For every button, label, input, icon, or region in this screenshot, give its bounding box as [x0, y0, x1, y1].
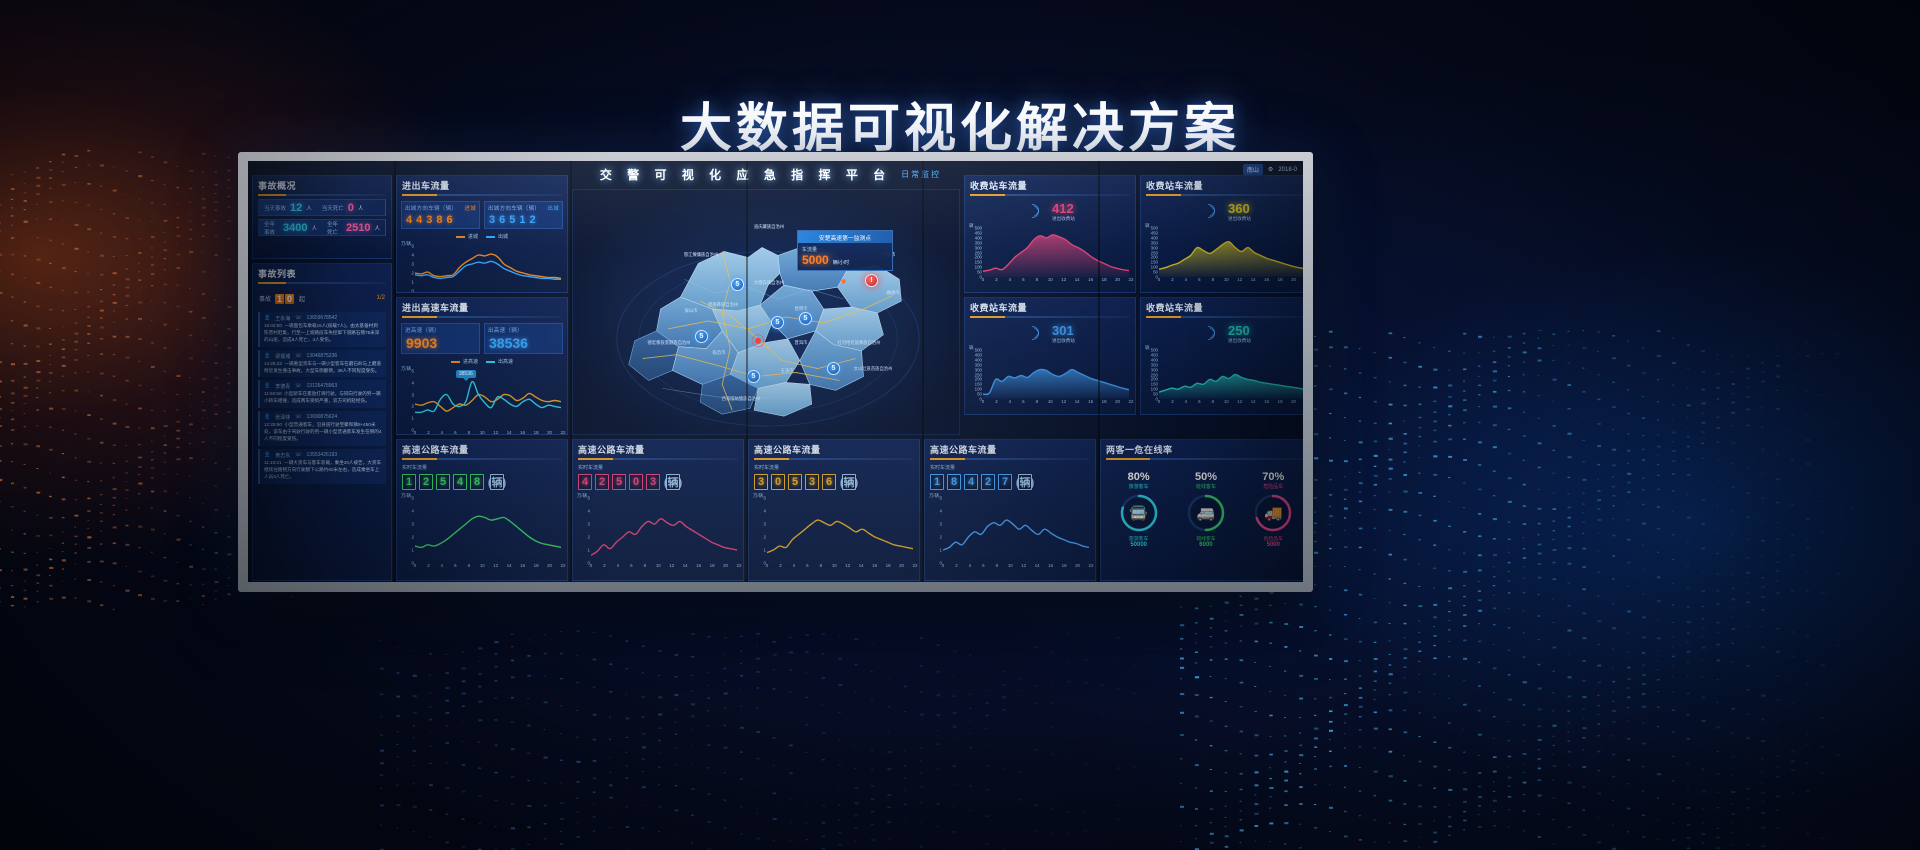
- title-underline: [258, 194, 386, 196]
- y-tick: 1: [412, 548, 414, 553]
- stat-unit: 人: [358, 204, 364, 212]
- x-tick: 14: [1251, 277, 1256, 282]
- y-tick: 2: [764, 535, 766, 540]
- x-tick: 14: [1075, 277, 1080, 282]
- map-region-label: 玉溪市: [781, 368, 794, 374]
- panel-accident-overview: 事故概况 当天事故12人当天死亡0人全年事故3400人全年死亡2510人: [252, 175, 392, 259]
- online-rate-gauge: 50%班线客车🚐班线客车6000: [1176, 471, 1236, 548]
- x-tick: 12: [493, 563, 498, 568]
- panel-title: 收费站车流量: [1141, 176, 1303, 194]
- panel-accident-list: 事故列表 事故 10 起 1/2 👤王永海☏1365967854215:02:5…: [252, 263, 392, 581]
- x-tick: 4: [1009, 399, 1011, 404]
- odometer-unit: (辆): [490, 474, 504, 490]
- dashboard-header: 交 警 可 视 化 应 急 指 挥 平 台 日常监控: [578, 161, 963, 187]
- accident-text: 11:10:21 一辆大货车与客车装载，乘坐20人被告，大货车继续往路侧方向行驶…: [264, 460, 382, 481]
- legend-label: 出高速: [498, 358, 513, 365]
- x-tick: 8: [468, 563, 470, 568]
- count-unit: 起: [299, 294, 305, 303]
- gear-icon[interactable]: ⚙: [1268, 166, 1273, 173]
- x-tick: 16: [520, 563, 525, 568]
- accident-time: 14:25:23: [264, 361, 282, 366]
- x-tick: 18: [1278, 399, 1283, 404]
- header-clock: 南山 ⚙ 2018-0: [1243, 164, 1297, 175]
- x-tick: 18: [886, 563, 891, 568]
- map-marker-pin[interactable]: 5: [827, 362, 840, 375]
- title-underline: [754, 458, 914, 460]
- panel-title: 高速公路车流量: [749, 440, 919, 458]
- toll-sub-label: 进出收费站: [1052, 338, 1075, 344]
- x-tick: 14: [1075, 399, 1080, 404]
- x-tick: 8: [468, 291, 470, 293]
- person-icon: 👤: [264, 315, 270, 322]
- x-tick: 4: [1185, 399, 1187, 404]
- x-tick: 16: [696, 563, 701, 568]
- phone-icon: ☏: [295, 353, 301, 360]
- highspeed-flow-chart: 万/辆543210024681012141618202238536: [401, 367, 563, 435]
- toll-counter: 360进出收费站: [1141, 199, 1303, 222]
- chart-legend: 进城出城: [397, 233, 567, 240]
- odometer-digit: 1: [930, 474, 944, 490]
- accident-time: 12:25:50: [264, 422, 282, 427]
- x-tick: 12: [1237, 277, 1242, 282]
- panel-title: 两客一危在线率: [1101, 440, 1303, 458]
- online-rate-gauge: 70%危险品车🚚危险品车5000: [1243, 471, 1303, 548]
- odometer-digit: 2: [981, 474, 995, 490]
- y-tick: 3: [412, 392, 414, 397]
- gauge-percent: 80%: [1109, 471, 1169, 483]
- counter-digits: 44386: [405, 214, 476, 226]
- x-tick: 2: [427, 291, 429, 293]
- realtime-flow-label: 实时车流量: [397, 463, 567, 471]
- title-underline: [402, 316, 562, 318]
- count-digit: 1: [275, 294, 284, 304]
- odometer-digit: 0: [771, 474, 785, 490]
- tooltip-value: 5000: [802, 253, 829, 267]
- tooltip-label: 车流量: [802, 246, 888, 253]
- odometer-digit: 5: [436, 474, 450, 490]
- reporter-phone: 13126478963: [307, 383, 338, 390]
- x-tick: 2: [995, 277, 997, 282]
- x-tick: 16: [1264, 277, 1269, 282]
- accident-list-item[interactable]: 👤梁振城☏1304687523614:25:23 一辆重型货车与一辆小型客车在磨…: [258, 350, 386, 378]
- y-tick: 5: [412, 369, 414, 374]
- counter-digits: 36512: [488, 214, 559, 226]
- vehicle-icon: 🚐: [1197, 504, 1216, 522]
- counter-group: 进高速（辆）9903出高速（辆）38536: [397, 321, 567, 356]
- x-tick: 10: [480, 563, 485, 568]
- title-underline: [578, 458, 738, 460]
- legend-label: 出城: [498, 233, 508, 240]
- panel-title: 高速公路车流量: [573, 440, 743, 458]
- stat-label: 全年死亡: [327, 220, 342, 236]
- y-axis: 500450400350300250200150100500: [1145, 228, 1159, 277]
- odometer-digit: 8: [947, 474, 961, 490]
- x-tick: 2: [1171, 277, 1173, 282]
- x-tick: 14: [859, 563, 864, 568]
- x-tick: 20: [547, 563, 552, 568]
- x-tick: 2: [427, 563, 429, 568]
- x-tick: 18: [1062, 563, 1067, 568]
- chart-legend: 进高速出高速: [397, 358, 567, 365]
- gauge-caption: 班线客车: [1176, 535, 1236, 542]
- x-tick: 20: [1291, 399, 1296, 404]
- counter-digit: 2: [529, 214, 537, 226]
- gauge-ring: 🚍: [1119, 493, 1159, 533]
- x-tick: 8: [996, 563, 998, 568]
- map-panel[interactable]: 迪庆藏族自治州丽江市怒江傈僳族自治州大理白族自治州保山市昭通市曲靖市楚雄彝族自治…: [572, 189, 960, 435]
- title-underline: [258, 282, 386, 284]
- x-tick: 0: [1158, 277, 1160, 282]
- x-tick: 18: [534, 430, 539, 435]
- reporter-phone: 13046875236: [307, 353, 338, 360]
- tooltip-unit: 辆/小时: [833, 259, 849, 266]
- title-underline: [970, 316, 1130, 318]
- odometer-digit: 4: [453, 474, 467, 490]
- counter-group: 出城方向车辆（辆）进城44386出城方向车辆（辆）出城36512: [397, 199, 567, 231]
- realtime-flow-label: 实时车流量: [573, 463, 743, 471]
- accident-meta: 👤王永海☏13659678542: [264, 315, 382, 322]
- map-region-label: 怒江傈僳族自治州: [684, 252, 718, 258]
- y-axis: 500450400350300250200150100500: [1145, 350, 1159, 399]
- x-tick: 20: [1115, 277, 1120, 282]
- accident-list-item[interactable]: 👤张泽林☏1369087562412:25:50 小型普通客车，沿县道行驶至聚和…: [258, 411, 386, 446]
- x-axis: 0246810121416182022: [415, 430, 563, 435]
- y-tick: 5: [588, 496, 590, 501]
- odometer-unit: (辆): [1018, 474, 1032, 490]
- accident-list-item[interactable]: 👤王永海☏1365967854215:02:50 一辆面包车乘载15人(核载7人…: [258, 312, 386, 347]
- pager-label[interactable]: 1/2: [377, 295, 385, 301]
- y-axis: 543210: [753, 498, 767, 563]
- count-label: 事故: [259, 294, 271, 303]
- x-tick: 16: [520, 430, 525, 435]
- map-region-label: 楚雄彝族自治州: [708, 302, 738, 308]
- x-tick: 20: [899, 563, 904, 568]
- x-tick: 16: [1088, 277, 1093, 282]
- title-underline: [1106, 458, 1303, 460]
- panel-inout-vehicle-flow: 进出车流量 出城方向车辆（辆）进城44386出城方向车辆（辆）出城36512 进…: [396, 175, 568, 293]
- title-underline: [402, 458, 562, 460]
- y-tick: 1: [412, 280, 414, 285]
- x-tick: 4: [617, 563, 619, 568]
- panel-highway-flow-3: 高速公路车流量实时车流量30536(辆)万/辆54321002468101214…: [748, 439, 920, 581]
- stat-label: 全年事故: [264, 220, 279, 236]
- legend-swatch: [486, 236, 495, 238]
- map-marker-pin[interactable]: 5: [771, 316, 784, 329]
- x-tick: 4: [1009, 277, 1011, 282]
- map-marker-pin[interactable]: 5: [695, 330, 708, 343]
- accident-meta: 👤张泽林☏13690875624: [264, 414, 382, 421]
- x-tick: 4: [441, 430, 443, 435]
- y-tick: 5: [764, 496, 766, 501]
- y-tick: 3: [764, 522, 766, 527]
- x-tick: 18: [534, 291, 539, 293]
- toll-value: 301: [1052, 323, 1074, 338]
- x-tick: 12: [1061, 399, 1066, 404]
- plot-area: [983, 350, 1129, 399]
- x-tick: 16: [872, 563, 877, 568]
- title-underline: [402, 194, 562, 196]
- legend-label: 进城: [468, 233, 478, 240]
- accident-text: 11:50:50 小型轿车在冕勃打滑行驶，与同向行驶的另一辆小轿车相撞，造成两车…: [264, 391, 382, 405]
- x-tick: 0: [414, 430, 416, 435]
- x-tick: 8: [1036, 399, 1038, 404]
- map-region-label: 普洱市: [795, 340, 808, 346]
- accident-list-item[interactable]: 👤黄志东☏1355342619311:10:21 一辆大货车与客车装载，乘坐20…: [258, 449, 386, 484]
- x-axis: 0246810121416182022: [983, 277, 1131, 286]
- x-tick: 0: [982, 399, 984, 404]
- x-tick: 10: [1048, 399, 1053, 404]
- panel-title: 收费站车流量: [965, 298, 1135, 316]
- y-tick: 3: [412, 522, 414, 527]
- plot-area: [415, 371, 561, 430]
- accident-time: 11:50:50: [264, 391, 282, 396]
- peak-tag: 38536: [456, 370, 476, 378]
- title-underline: [1146, 194, 1303, 196]
- panel-title: 高速公路车流量: [925, 440, 1095, 458]
- tooltip-title: 安楚高速第一监测点: [798, 231, 892, 243]
- map-region-label: 曲靖市: [887, 290, 900, 296]
- x-tick: 12: [493, 430, 498, 435]
- x-tick: 20: [547, 291, 552, 293]
- x-tick: 6: [1198, 399, 1200, 404]
- x-tick: 2: [427, 430, 429, 435]
- legend-item: 进城: [456, 233, 478, 240]
- gauge-value: 6000: [1176, 542, 1236, 548]
- toll-value: 360: [1228, 201, 1250, 216]
- gauge-value: 50000: [1109, 542, 1169, 548]
- region-badge[interactable]: 南山: [1243, 164, 1263, 175]
- plot-area: [591, 498, 737, 563]
- x-tick: 4: [969, 563, 971, 568]
- y-tick: 2: [412, 404, 414, 409]
- toll-counter: 301进出收费站: [965, 321, 1135, 344]
- reporter-phone: 13690875624: [307, 414, 338, 421]
- x-axis: 0246810121416182022: [767, 563, 915, 572]
- map-tooltip: 安楚高速第一监测点 车流量 5000 辆/小时: [797, 230, 893, 271]
- y-axis: 543210: [401, 498, 415, 563]
- x-tick: 4: [441, 563, 443, 568]
- realtime-flow-label: 实时车流量: [925, 463, 1095, 471]
- odometer-digit: 3: [805, 474, 819, 490]
- plot-area: [415, 498, 561, 563]
- gauge-percent: 70%: [1243, 471, 1303, 483]
- x-tick: 10: [1224, 277, 1229, 282]
- plot-area: [943, 498, 1089, 563]
- y-tick: 2: [412, 271, 414, 276]
- x-tick: 22: [1089, 563, 1094, 568]
- x-tick: 2: [603, 563, 605, 568]
- y-tick: 4: [588, 509, 590, 514]
- x-tick: 0: [942, 563, 944, 568]
- map-region-label: 保山市: [685, 308, 698, 314]
- legend-item: 进高速: [451, 358, 478, 365]
- panel-toll-station-2: 收费站车流量360进出收费站辆5004504003503002502001501…: [1140, 175, 1303, 293]
- x-tick: 10: [480, 430, 485, 435]
- x-tick: 10: [480, 291, 485, 293]
- x-tick: 12: [1061, 277, 1066, 282]
- wall-seam: [922, 161, 924, 582]
- x-tick: 10: [832, 563, 837, 568]
- x-tick: 6: [1022, 277, 1024, 282]
- counter-digit: 6: [498, 214, 506, 226]
- accident-time: 15:02:50: [264, 323, 282, 328]
- x-tick: 8: [644, 563, 646, 568]
- plot-area: [983, 228, 1129, 277]
- person-icon: 👤: [264, 353, 270, 360]
- map-marker-pin[interactable]: 5: [731, 278, 744, 291]
- map-marker-pin[interactable]: 5: [747, 370, 760, 383]
- overview-stat-row: 全年事故3400人全年死亡2510人: [258, 219, 386, 236]
- x-tick: 18: [1102, 399, 1107, 404]
- reporter-name: 黄志东: [275, 452, 290, 459]
- reporter-name: 李德青: [275, 383, 290, 390]
- x-tick: 16: [520, 291, 525, 293]
- odometer-digit: 3: [754, 474, 768, 490]
- y-tick: 3: [940, 522, 942, 527]
- phone-icon: ☏: [295, 315, 301, 322]
- y-tick: 4: [764, 509, 766, 514]
- date-label: 2018-0: [1278, 167, 1297, 173]
- odometer-digit: 8: [470, 474, 484, 490]
- gauge-ring: 🚐: [1186, 493, 1226, 533]
- odometer-digit: 2: [595, 474, 609, 490]
- panel-highway-flow-4: 高速公路车流量实时车流量18427(辆)万/辆54321002468101214…: [924, 439, 1096, 581]
- y-tick: 5: [412, 244, 414, 249]
- y-tick: 2: [588, 535, 590, 540]
- counter-digit: 6: [446, 214, 454, 226]
- y-axis: 543210: [401, 371, 415, 430]
- odometer-digit: 0: [629, 474, 643, 490]
- odometer-unit: (辆): [842, 474, 856, 490]
- x-tick: 2: [955, 563, 957, 568]
- x-tick: 14: [683, 563, 688, 568]
- counter-digit: 5: [508, 214, 516, 226]
- map-marker-pin[interactable]: 5: [799, 312, 812, 325]
- odometer-digit: 4: [578, 474, 592, 490]
- y-tick: 1: [412, 416, 414, 421]
- x-tick: 8: [468, 430, 470, 435]
- y-tick: 1: [588, 548, 590, 553]
- counter-value: 9903: [405, 335, 476, 351]
- x-tick: 22: [561, 563, 566, 568]
- counter-badge: 出城: [547, 204, 559, 212]
- panel-title: 收费站车流量: [1141, 298, 1303, 316]
- x-tick: 2: [779, 563, 781, 568]
- stat-label: 当天事故: [264, 204, 286, 212]
- map-region-label: 红河哈尼族彝族自治州: [838, 340, 881, 346]
- flow-counter: 进高速（辆）9903: [401, 323, 480, 354]
- odometer-digit: 1: [402, 474, 416, 490]
- counter-digit: 8: [435, 214, 443, 226]
- gauge-ring: 🚚: [1253, 493, 1293, 533]
- map-region-label: 临沧市: [713, 350, 726, 356]
- counter-digit: 1: [518, 214, 526, 226]
- stat-label: 当天死亡: [322, 204, 344, 212]
- accident-text: 15:02:50 一辆面包车乘载15人(核载7人)，由太基备村到陈营村赶集，行至…: [264, 323, 382, 344]
- person-icon: 👤: [264, 452, 270, 459]
- map-region-label: 大理白族自治州: [754, 280, 784, 286]
- dashboard-screen: 交 警 可 视 化 应 急 指 挥 平 台 日常监控 南山 ⚙ 2018-0 事…: [248, 161, 1303, 582]
- y-tick: 1: [764, 548, 766, 553]
- y-tick: 5: [412, 496, 414, 501]
- counter-label: 进高速（辆）: [405, 326, 440, 334]
- legend-swatch: [486, 361, 495, 363]
- x-tick: 16: [1088, 399, 1093, 404]
- odometer-digit: 4: [964, 474, 978, 490]
- stat-value: 0: [348, 202, 354, 214]
- x-tick: 4: [441, 291, 443, 293]
- gauge-percent: 50%: [1176, 471, 1236, 483]
- realtime-flow-label: 实时车流量: [749, 463, 919, 471]
- x-tick: 10: [1008, 563, 1013, 568]
- x-tick: 14: [507, 430, 512, 435]
- x-tick: 10: [1224, 399, 1229, 404]
- x-tick: 8: [1212, 399, 1214, 404]
- flow-counter: 出城方向车辆（辆）出城36512: [484, 201, 563, 229]
- vehicle-icon: 🚍: [1129, 504, 1148, 522]
- x-tick: 12: [669, 563, 674, 568]
- gauge-name: 旅游客车: [1109, 483, 1169, 490]
- y-tick: 4: [412, 380, 414, 385]
- accident-list-item[interactable]: 👤李德青☏1312647896311:50:50 小型轿车在冕勃打滑行驶，与同向…: [258, 380, 386, 408]
- panel-toll-station-4: 收费站车流量250进出收费站辆5004504003503002502001501…: [1140, 297, 1303, 415]
- panel-online-rate: 两客一危在线率 80%旅游客车🚍旅游客车5000050%班线客车🚐班线客车600…: [1100, 439, 1303, 581]
- map-region-label: 西双版纳傣族自治州: [722, 396, 761, 402]
- map-region-label: 德宏傣族景颇族自治州: [648, 340, 691, 346]
- x-tick: 8: [1212, 277, 1214, 282]
- x-tick: 14: [1251, 399, 1256, 404]
- title-underline: [930, 458, 1090, 460]
- x-tick: 22: [1129, 399, 1134, 404]
- odometer-digit: 5: [612, 474, 626, 490]
- page-title: 大数据可视化解决方案: [0, 86, 1920, 161]
- stat-value: 2510: [346, 222, 370, 234]
- wall-seam: [394, 161, 396, 582]
- legend-swatch: [456, 236, 465, 238]
- wall-seam: [570, 161, 572, 582]
- counter-label: 出高速（辆）: [488, 326, 523, 334]
- gauge-caption: 危险品车: [1243, 535, 1303, 542]
- x-axis: 0246810121416182022: [1159, 277, 1303, 286]
- x-tick: 22: [913, 563, 918, 568]
- panel-toll-station-3: 收费站车流量301进出收费站辆5004504003503002502001501…: [964, 297, 1136, 415]
- reporter-name: 王永海: [275, 315, 290, 322]
- x-tick: 4: [1185, 277, 1187, 282]
- x-axis: 0246810121416182022: [1159, 399, 1303, 408]
- legend-item: 出高速: [486, 358, 513, 365]
- x-tick: 18: [1278, 277, 1283, 282]
- odometer-unit: (辆): [666, 474, 680, 490]
- toll-sub-label: 进出收费站: [1228, 216, 1251, 222]
- accident-meta: 👤黄志东☏13553426193: [264, 452, 382, 459]
- plot-area: [1159, 228, 1303, 277]
- toll-counter: 250进出收费站: [1141, 321, 1303, 344]
- person-icon: 👤: [264, 383, 270, 390]
- x-tick: 8: [1036, 277, 1038, 282]
- wall-seam: [1098, 161, 1100, 582]
- counter-digit: 4: [415, 214, 423, 226]
- panel-title: 进出车流量: [397, 176, 567, 194]
- gauge-caption: 旅游客车: [1109, 535, 1169, 542]
- radar-icon: [1201, 204, 1223, 218]
- x-axis: 0246810121416182022: [591, 563, 739, 572]
- x-tick: 22: [561, 291, 566, 293]
- odometer: 12548(辆): [397, 471, 567, 492]
- map-alarm-pin[interactable]: !: [865, 274, 878, 287]
- x-tick: 12: [1021, 563, 1026, 568]
- x-tick: 20: [723, 563, 728, 568]
- wall-seam: [746, 161, 748, 582]
